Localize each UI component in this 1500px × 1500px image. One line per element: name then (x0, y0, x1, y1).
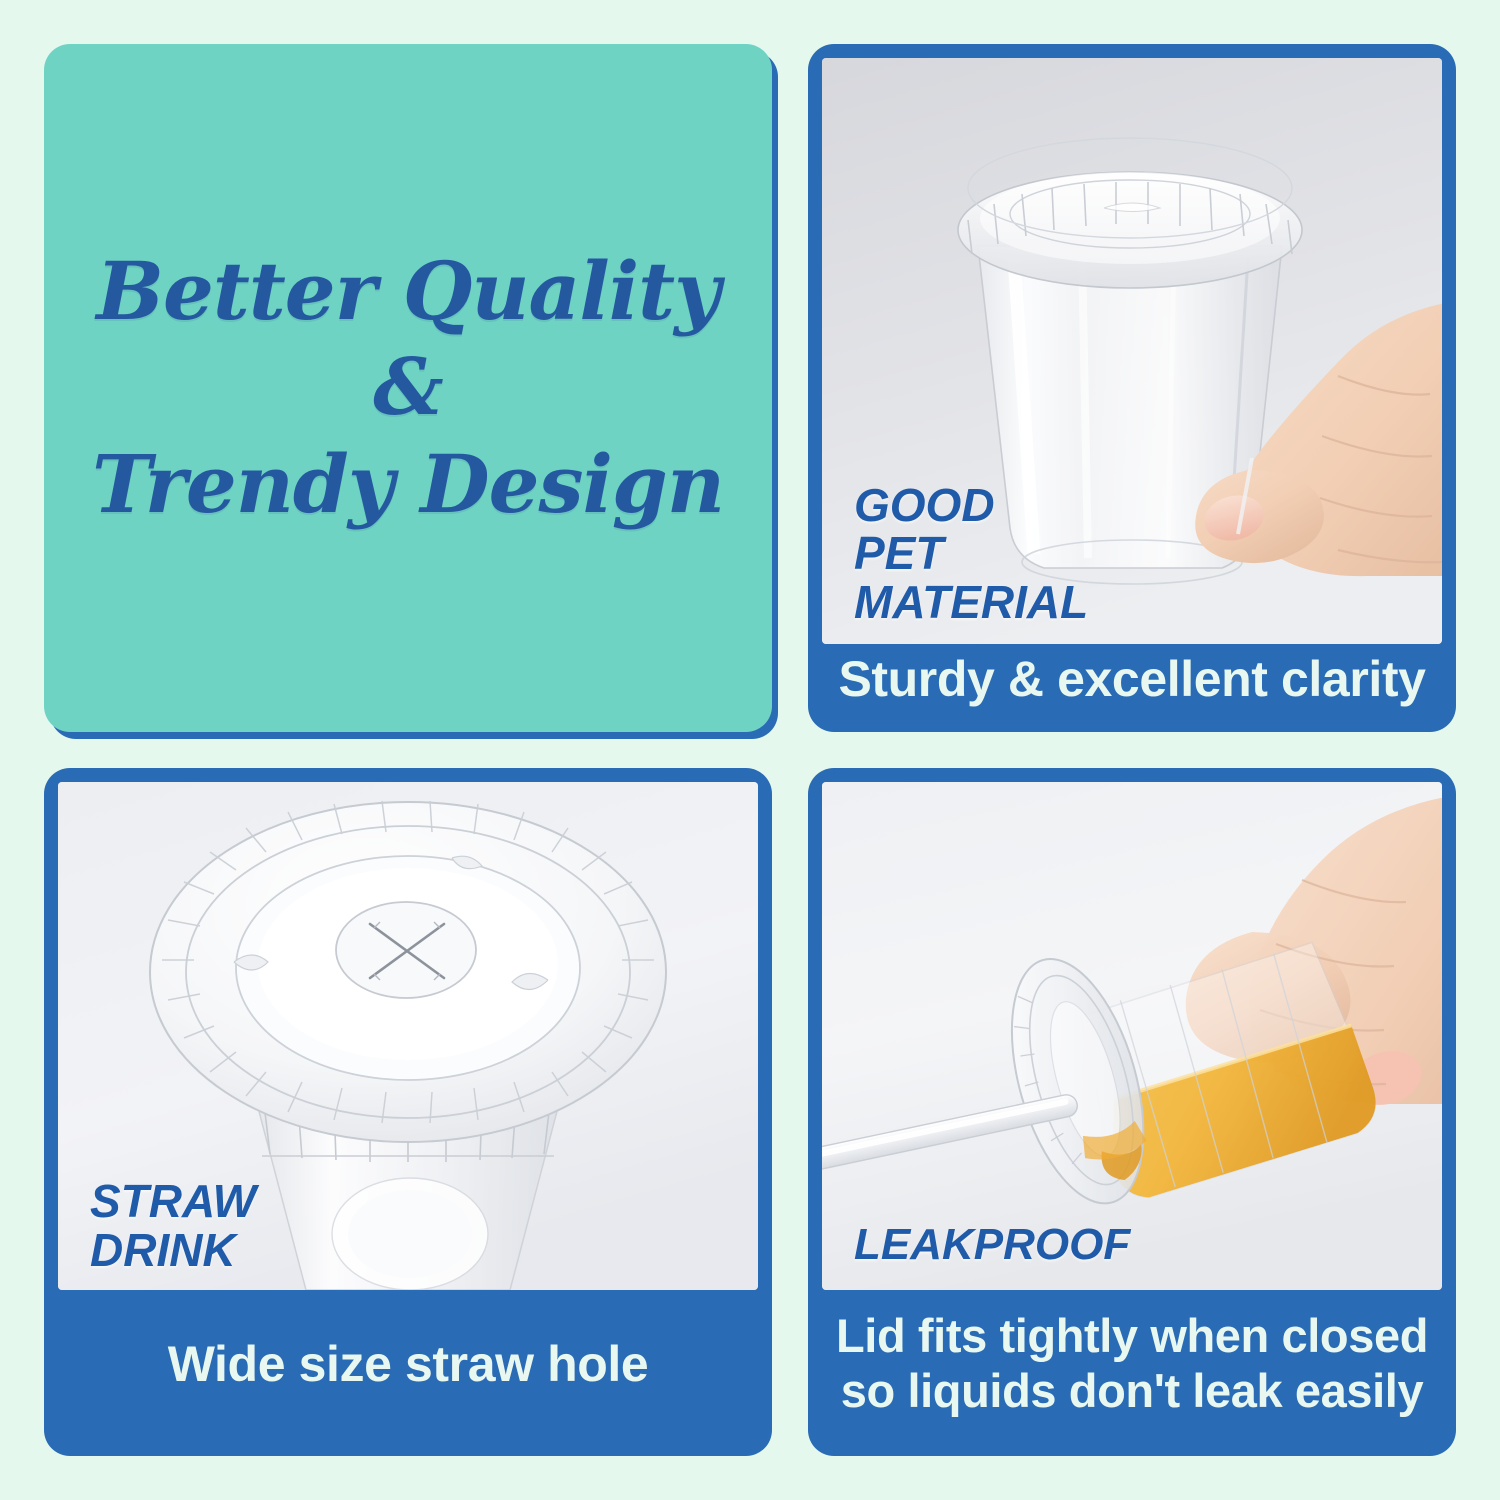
panel-tag-leakproof: LEAKPROOF (854, 1222, 1130, 1268)
hero-title-line1: Better Quality (92, 243, 724, 341)
caption-line-1: Lid fits tightly when closed (836, 1309, 1428, 1364)
feature-panel-straw-drink: STRAW DRINK Wide size straw hole (44, 768, 772, 1456)
photo-leakproof-tilted-cup: LEAKPROOF (822, 782, 1442, 1290)
panel-caption-good-pet-material: Sturdy & excellent clarity (822, 644, 1442, 718)
hero-title: Better Quality & Trendy Design (68, 243, 748, 533)
caption-text: Wide size straw hole (168, 1335, 649, 1393)
feature-grid: Better Quality & Trendy Design (0, 0, 1500, 1500)
panel-caption-leakproof: Lid fits tightly when closed so liquids … (822, 1290, 1442, 1442)
caption-text: Sturdy & excellent clarity (838, 650, 1425, 708)
panel-tag-good-pet-material: GOOD PET MATERIAL (854, 481, 1088, 626)
hero-title-ampersand: & (92, 340, 724, 435)
panel-tag-straw-drink: STRAW DRINK (90, 1177, 256, 1274)
hero-title-line3: Trendy Design (92, 436, 724, 534)
caption-line-2: so liquids don't leak easily (841, 1364, 1423, 1419)
feature-panel-good-pet-material: GOOD PET MATERIAL Sturdy & excellent cla… (808, 44, 1456, 732)
hero-panel: Better Quality & Trendy Design (44, 44, 772, 732)
photo-hand-holding-clear-cup: GOOD PET MATERIAL (822, 58, 1442, 644)
leakproof-illustration (822, 782, 1442, 1290)
photo-lid-with-straw-slot: STRAW DRINK (58, 782, 758, 1290)
feature-panel-leakproof: LEAKPROOF Lid fits tightly when closed s… (808, 768, 1456, 1456)
panel-caption-straw-drink: Wide size straw hole (58, 1290, 758, 1442)
